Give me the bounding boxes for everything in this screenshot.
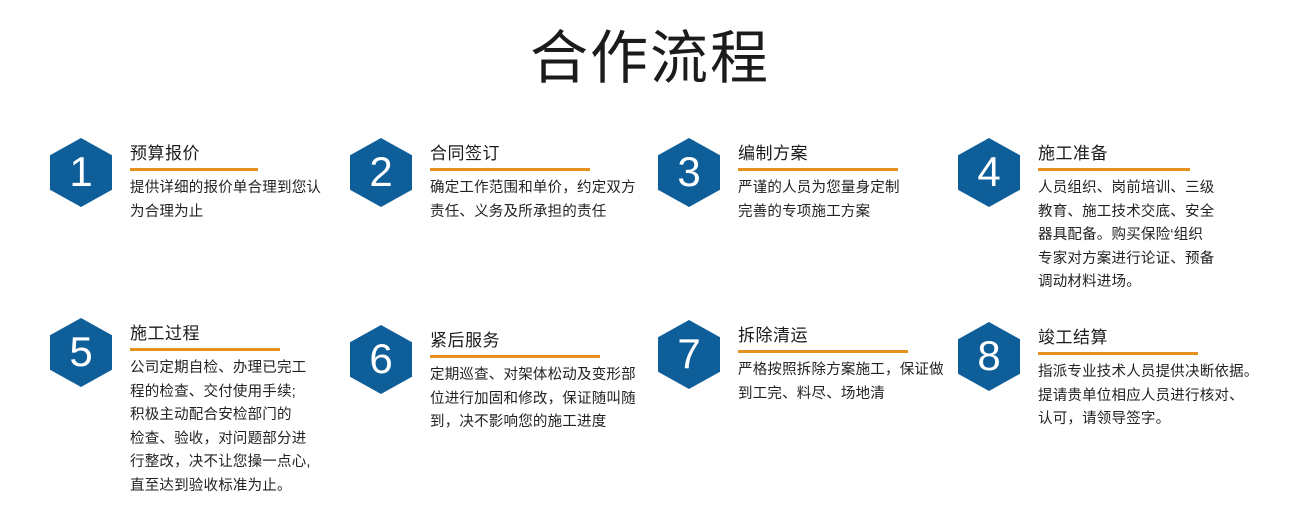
step-title-8: 竣工结算 (1038, 327, 1259, 348)
process-step-6: 6 紧后服务 定期巡查、对架体松动及变形部 位进行加固和修改，保证随叫随 到，决… (350, 325, 636, 435)
step-description-line: 检查、验收，对问题部分进 (130, 428, 311, 451)
step-description-2: 确定工作范围和单价，约定双方 责任、义务及所承担的责任 (430, 177, 636, 224)
step-description-line: 位进行加固和修改，保证随叫随 (430, 388, 636, 411)
step-underline-5 (130, 348, 280, 351)
step-description-line: 认可，请领导签字。 (1038, 408, 1259, 431)
step-number-6: 6 (369, 338, 392, 380)
step-number-4: 4 (977, 151, 1000, 193)
step-title-1: 预算报价 (130, 143, 321, 164)
step-description-5: 公司定期自检、办理已完工 程的检查、交付使用手续; 积极主动配合安检部门的 检查… (130, 357, 311, 498)
step-description-line: 调动材料进场。 (1038, 271, 1214, 294)
step-description-line: 公司定期自检、办理已完工 (130, 357, 311, 380)
step-description-7: 严格按照拆除方案施工，保证做 到工完、料尽、场地清 (738, 359, 944, 406)
step-description-line: 提供详细的报价单合理到您认 (130, 177, 321, 200)
process-step-2: 2 合同签订 确定工作范围和单价，约定双方 责任、义务及所承担的责任 (350, 138, 636, 224)
step-underline-1 (130, 168, 258, 171)
step-number-7: 7 (677, 333, 700, 375)
step-description-line: 直至达到验收标准为止。 (130, 475, 311, 498)
step-number-badge-1: 1 (50, 138, 112, 207)
step-description-3: 严谨的人员为您量身定制 完善的专项施工方案 (738, 177, 900, 224)
step-description-line: 严格按照拆除方案施工，保证做 (738, 359, 944, 382)
step-underline-2 (430, 168, 590, 171)
process-step-7: 7 拆除清运 严格按照拆除方案施工，保证做 到工完、料尽、场地清 (658, 320, 944, 406)
step-description-line: 教育、施工技术交底、安全 (1038, 201, 1214, 224)
step-number-3: 3 (677, 151, 700, 193)
step-title-6: 紧后服务 (430, 330, 636, 351)
step-number-5: 5 (69, 331, 92, 373)
step-number-badge-3: 3 (658, 138, 720, 207)
step-description-line: 行整改，决不让您操一点心, (130, 451, 311, 474)
step-underline-7 (738, 350, 908, 353)
step-number-2: 2 (369, 151, 392, 193)
step-description-4: 人员组织、岗前培训、三级 教育、施工技术交底、安全 器具配备。购买保险‘组织 专… (1038, 177, 1214, 294)
step-description-line: 严谨的人员为您量身定制 (738, 177, 900, 200)
step-body-2: 合同签订 确定工作范围和单价，约定双方 责任、义务及所承担的责任 (430, 138, 636, 224)
step-description-line: 确定工作范围和单价，约定双方 (430, 177, 636, 200)
step-title-2: 合同签订 (430, 143, 636, 164)
step-title-3: 编制方案 (738, 143, 900, 164)
step-number-badge-7: 7 (658, 320, 720, 389)
cooperation-process-infographic: 合作流程 1 预算报价 提供详细的报价单合理到您认 为合理为止 2 合同签订 (0, 0, 1300, 532)
step-body-3: 编制方案 严谨的人员为您量身定制 完善的专项施工方案 (738, 138, 900, 224)
step-description-line: 程的检查、交付使用手续; (130, 381, 311, 404)
process-step-5: 5 施工过程 公司定期自检、办理已完工 程的检查、交付使用手续; 积极主动配合安… (50, 318, 311, 498)
step-body-1: 预算报价 提供详细的报价单合理到您认 为合理为止 (130, 138, 321, 224)
step-description-line: 提请贵单位相应人员进行核对、 (1038, 385, 1259, 408)
step-body-5: 施工过程 公司定期自检、办理已完工 程的检查、交付使用手续; 积极主动配合安检部… (130, 318, 311, 498)
step-description-line: 专家对方案进行论证、预备 (1038, 248, 1214, 271)
step-description-line: 人员组织、岗前培训、三级 (1038, 177, 1214, 200)
step-description-line: 完善的专项施工方案 (738, 201, 900, 224)
step-description-line: 积极主动配合安检部门的 (130, 404, 311, 427)
step-body-7: 拆除清运 严格按照拆除方案施工，保证做 到工完、料尽、场地清 (738, 320, 944, 406)
step-number-badge-4: 4 (958, 138, 1020, 207)
step-description-line: 器具配备。购买保险‘组织 (1038, 224, 1214, 247)
step-number-1: 1 (69, 151, 92, 193)
step-number-8: 8 (977, 335, 1000, 377)
step-description-line: 到工完、料尽、场地清 (738, 383, 944, 406)
process-step-4: 4 施工准备 人员组织、岗前培训、三级 教育、施工技术交底、安全 器具配备。购买… (958, 138, 1214, 295)
step-title-5: 施工过程 (130, 323, 311, 344)
step-number-badge-5: 5 (50, 318, 112, 387)
step-underline-6 (430, 355, 600, 358)
step-description-8: 指派专业技术人员提供决断依据。 提请贵单位相应人员进行核对、 认可，请领导签字。 (1038, 361, 1259, 431)
step-body-6: 紧后服务 定期巡查、对架体松动及变形部 位进行加固和修改，保证随叫随 到，决不影… (430, 325, 636, 435)
step-description-line: 到，决不影响您的施工进度 (430, 411, 636, 434)
step-description-line: 为合理为止 (130, 201, 321, 224)
step-underline-4 (1038, 168, 1190, 171)
step-description-6: 定期巡查、对架体松动及变形部 位进行加固和修改，保证随叫随 到，决不影响您的施工… (430, 364, 636, 434)
step-number-badge-6: 6 (350, 325, 412, 394)
page-title: 合作流程 (0, 26, 1300, 93)
process-step-1: 1 预算报价 提供详细的报价单合理到您认 为合理为止 (50, 138, 321, 224)
step-description-1: 提供详细的报价单合理到您认 为合理为止 (130, 177, 321, 224)
step-number-badge-8: 8 (958, 322, 1020, 391)
step-description-line: 定期巡查、对架体松动及变形部 (430, 364, 636, 387)
process-step-3: 3 编制方案 严谨的人员为您量身定制 完善的专项施工方案 (658, 138, 900, 224)
step-underline-8 (1038, 352, 1198, 355)
step-description-line: 指派专业技术人员提供决断依据。 (1038, 361, 1259, 384)
step-title-4: 施工准备 (1038, 143, 1214, 164)
step-body-8: 竣工结算 指派专业技术人员提供决断依据。 提请贵单位相应人员进行核对、 认可，请… (1038, 322, 1259, 432)
process-step-8: 8 竣工结算 指派专业技术人员提供决断依据。 提请贵单位相应人员进行核对、 认可… (958, 322, 1259, 432)
step-number-badge-2: 2 (350, 138, 412, 207)
step-title-7: 拆除清运 (738, 325, 944, 346)
step-underline-3 (738, 168, 898, 171)
step-body-4: 施工准备 人员组织、岗前培训、三级 教育、施工技术交底、安全 器具配备。购买保险… (1038, 138, 1214, 295)
step-description-line: 责任、义务及所承担的责任 (430, 201, 636, 224)
